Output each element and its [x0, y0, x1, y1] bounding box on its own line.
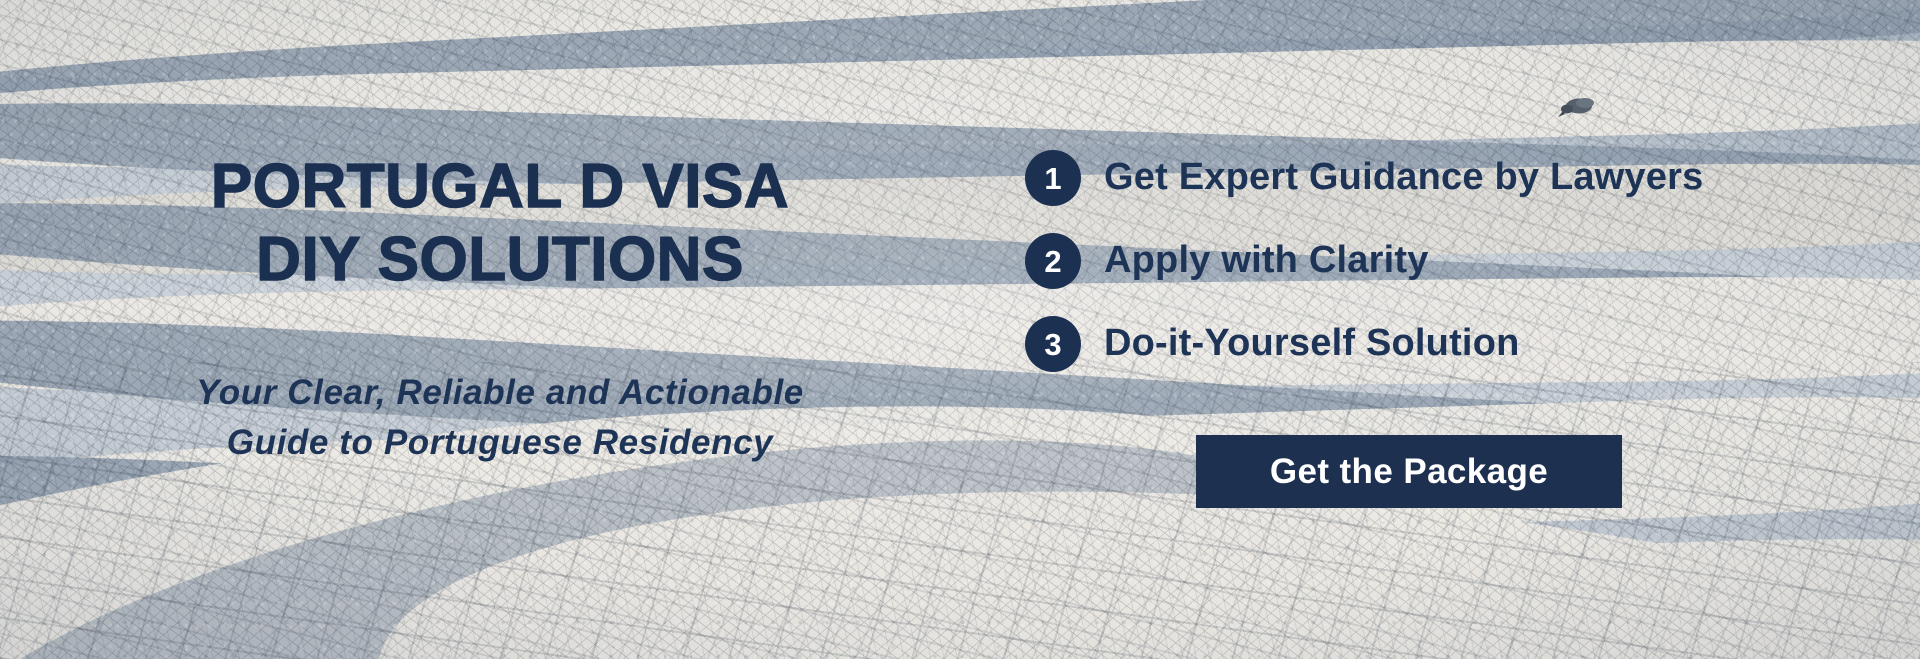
list-item: 2 Apply with Clarity: [1025, 233, 1825, 289]
step-number-badge: 2: [1025, 233, 1081, 289]
cta-container: Get the Package: [1196, 435, 1622, 508]
hero-banner: PORTUGAL D VISA DIY SOLUTIONS Your Clear…: [0, 0, 1920, 659]
step-label: Apply with Clarity: [1104, 240, 1429, 282]
get-the-package-button[interactable]: Get the Package: [1196, 435, 1622, 508]
subtitle-line-2: Guide to Portuguese Residency: [100, 418, 900, 468]
banner-content: PORTUGAL D VISA DIY SOLUTIONS Your Clear…: [0, 0, 1920, 659]
step-label: Do-it-Yourself Solution: [1104, 323, 1520, 365]
step-number-badge: 1: [1025, 150, 1081, 206]
step-number-badge: 3: [1025, 316, 1081, 372]
benefits-block: 1 Get Expert Guidance by Lawyers 2 Apply…: [1025, 150, 1825, 399]
headline-line-2: DIY SOLUTIONS: [100, 223, 900, 296]
list-item: 1 Get Expert Guidance by Lawyers: [1025, 150, 1825, 206]
headline-line-1: PORTUGAL D VISA: [100, 150, 900, 223]
subtitle-line-1: Your Clear, Reliable and Actionable: [100, 368, 900, 418]
step-label: Get Expert Guidance by Lawyers: [1104, 157, 1703, 199]
list-item: 3 Do-it-Yourself Solution: [1025, 316, 1825, 372]
page-title: PORTUGAL D VISA DIY SOLUTIONS: [100, 150, 900, 296]
benefits-list: 1 Get Expert Guidance by Lawyers 2 Apply…: [1025, 150, 1825, 372]
subtitle: Your Clear, Reliable and Actionable Guid…: [100, 368, 900, 467]
headline-block: PORTUGAL D VISA DIY SOLUTIONS Your Clear…: [100, 150, 900, 468]
